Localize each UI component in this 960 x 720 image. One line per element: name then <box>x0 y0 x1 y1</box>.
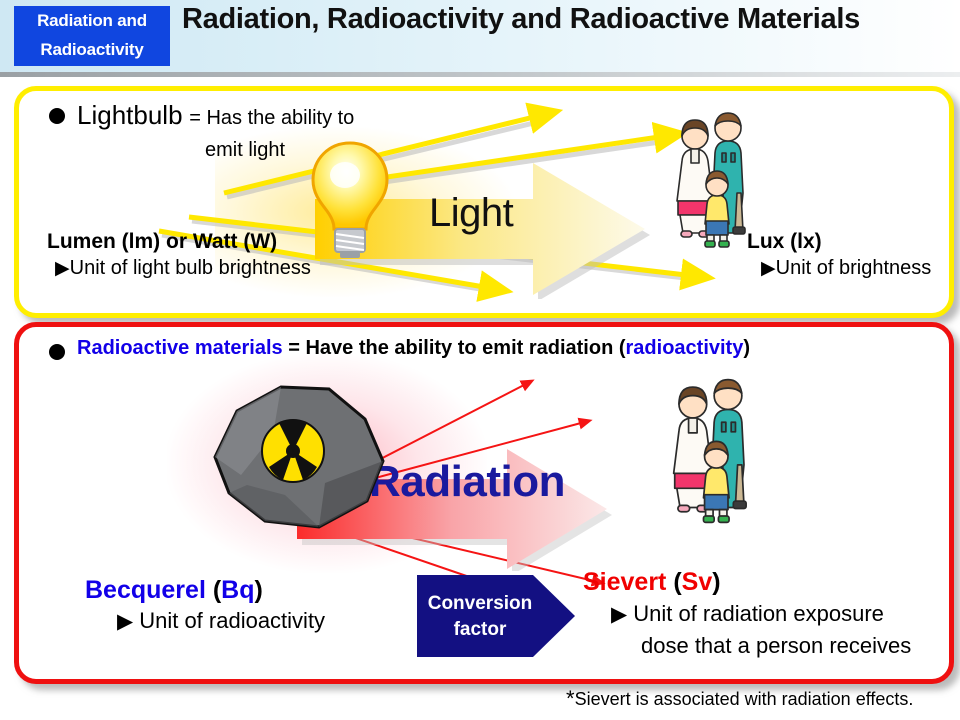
conversion-factor-line2: factor <box>417 617 543 643</box>
light-analogy-panel: Light <box>14 86 954 318</box>
becquerel-unit-block: Becquerel (Bq) ▶ Unit of radioactivity <box>85 575 325 637</box>
becquerel-description: Unit of radioactivity <box>139 608 325 633</box>
lightbulb-heading: Lightbulb = Has the ability to emit ligh… <box>77 99 354 166</box>
lumen-unit-block: Lumen (lm) or Watt (W) ▶Unit of light bu… <box>47 229 311 282</box>
conversion-factor-arrow: Conversion factor <box>417 575 577 657</box>
lightbulb-definition-line2: emit light <box>77 134 354 166</box>
radioactive-rock-icon <box>207 375 393 535</box>
becquerel-description-row: ▶ Unit of radioactivity <box>85 606 325 637</box>
becquerel-marker-icon: ▶ <box>117 610 133 633</box>
lumen-marker-icon: ▶ <box>55 258 70 279</box>
conversion-factor-line1: Conversion <box>417 591 543 617</box>
sievert-description-line1: Unit of radiation exposure <box>633 601 884 626</box>
lux-unit-block: Lux (lx) ▶Unit of brightness <box>747 229 931 282</box>
lightbulb-definition-line1: = Has the ability to <box>189 107 354 129</box>
family-illustration-radiation <box>663 375 793 527</box>
sievert-name-main: Sievert <box>583 568 666 596</box>
radioactivity-term: radioactivity <box>626 337 744 359</box>
sievert-description-line2: dose that a person receives <box>641 633 911 658</box>
lux-unit-description: Unit of brightness <box>776 257 932 279</box>
lux-marker-icon: ▶ <box>761 258 776 279</box>
becquerel-name-main: Becquerel <box>85 576 206 604</box>
lightbulb-term: Lightbulb <box>77 100 183 130</box>
header-divider <box>0 72 960 77</box>
radioactive-materials-bullet <box>49 344 65 360</box>
sievert-paren-close: ) <box>712 568 720 596</box>
section-chip-line1: Radiation and <box>14 6 170 35</box>
becquerel-unit-name: Becquerel (Bq) <box>85 576 263 604</box>
lux-unit-name: Lux (lx) <box>747 230 822 253</box>
sievert-marker-icon: ▶ <box>611 603 627 626</box>
lumen-unit-name: Lumen (lm) or Watt (W) <box>47 230 277 253</box>
radiation-trefoil-icon <box>262 420 324 482</box>
sievert-unit-name: Sievert (Sv) <box>583 568 721 596</box>
radioactive-materials-term: Radioactive materials <box>77 337 283 359</box>
sievert-description-row1: ▶ Unit of radiation exposure <box>583 598 911 630</box>
section-chip-line2: Radioactivity <box>14 35 170 64</box>
lightbulb-bullet <box>49 108 65 124</box>
footnote-asterisk: * <box>566 686 575 711</box>
becquerel-abbr: Bq <box>221 576 254 604</box>
lumen-unit-description: Unit of light bulb brightness <box>70 257 311 279</box>
footnote: *Sievert is associated with radiation ef… <box>566 686 913 712</box>
radioactivity-paren-close: ) <box>743 337 750 359</box>
sievert-abbr: Sv <box>682 568 713 596</box>
radiation-arrow-label: Radiation <box>369 457 565 507</box>
section-chip: Radiation and Radioactivity <box>14 6 170 66</box>
sievert-unit-block: Sievert (Sv) ▶ Unit of radiation exposur… <box>583 567 911 661</box>
radioactive-materials-heading: Radioactive materials = Have the ability… <box>77 335 750 361</box>
radiation-analogy-panel: Radiation <box>14 322 954 684</box>
sievert-description-row2: dose that a person receives <box>583 630 911 661</box>
radioactive-materials-definition: = Have the ability to emit radiation ( <box>288 337 625 359</box>
sievert-paren-open: ( <box>673 568 681 596</box>
conversion-factor-label: Conversion factor <box>417 591 543 643</box>
page-title: Radiation, Radioactivity and Radioactive… <box>182 2 882 36</box>
footnote-text: Sievert is associated with radiation eff… <box>575 689 914 709</box>
light-arrow-label: Light <box>429 191 513 236</box>
becquerel-paren-close: ) <box>255 576 263 604</box>
lux-unit-description-row: ▶Unit of brightness <box>747 255 931 282</box>
becquerel-paren-open: ( <box>213 576 221 604</box>
lumen-unit-description-row: ▶Unit of light bulb brightness <box>47 255 311 282</box>
